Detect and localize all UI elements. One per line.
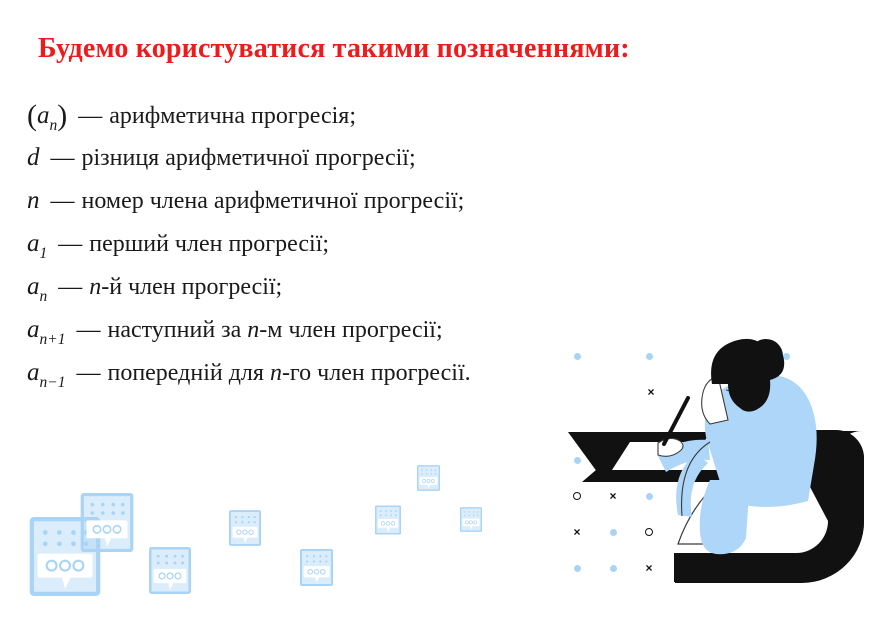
em-dash: — <box>65 358 107 388</box>
symbol-base: a <box>37 101 50 131</box>
em-dash: — <box>40 143 82 173</box>
notation-description: перший член прогресії; <box>89 229 329 259</box>
em-dash: — <box>67 101 109 131</box>
description-prefix: наступний за <box>107 317 247 343</box>
symbol-base: n <box>27 186 40 216</box>
symbol-base: a <box>27 229 40 259</box>
em-dash: — <box>40 186 82 216</box>
person-writing-illustration <box>560 330 880 629</box>
notation-description: номер члена арифметичної прогресії; <box>82 186 465 216</box>
notation-description: попередній для n-го член прогресії. <box>107 358 470 388</box>
chat-bubble-icon <box>79 493 135 552</box>
chat-bubble-icon <box>149 547 191 594</box>
notation-description: різниця арифметичної прогресії; <box>82 143 416 173</box>
description-suffix: -м член прогресії; <box>259 317 442 343</box>
chat-bubble-icon <box>229 510 261 546</box>
description-suffix: -го член прогресії. <box>282 360 471 386</box>
notation-description: n-й член прогресії; <box>89 272 282 302</box>
symbol-base: a <box>27 315 40 345</box>
notation-symbol: (an) <box>27 100 67 131</box>
symbol-base: a <box>27 358 40 388</box>
notation-description: арифметична прогресія; <box>109 101 356 131</box>
description-variable: n <box>270 360 282 386</box>
hair-bun <box>749 339 783 373</box>
symbol-base: a <box>27 272 40 302</box>
notation-line: a1 — перший член прогресії; <box>27 229 667 272</box>
chat-bubble-icon <box>300 549 333 586</box>
description-suffix: -й член прогресії; <box>101 274 282 300</box>
sweater-hip <box>700 480 750 554</box>
notation-symbol: n <box>27 186 40 216</box>
slide-canvas: Будемо користуватися такими позначеннями… <box>0 0 880 629</box>
description-variable: n <box>89 274 101 300</box>
em-dash: — <box>47 272 89 302</box>
notation-symbol: a1 <box>27 229 47 259</box>
desk-edge <box>582 470 732 482</box>
notation-line: n — номер члена арифметичної прогресії; <box>27 186 667 229</box>
notation-description: наступний за n-м член прогресії; <box>107 315 442 345</box>
paren-close: ) <box>57 102 67 129</box>
notation-line: (an) — арифметична прогресія; <box>27 100 667 143</box>
chat-bubble-icon <box>417 465 440 491</box>
notation-symbol: d <box>27 143 40 173</box>
page-title: Будемо користуватися такими позначеннями… <box>38 32 838 66</box>
notation-symbol: an−1 <box>27 358 65 388</box>
paren-open: ( <box>27 102 37 129</box>
notation-line: an — n-й член прогресії; <box>27 272 667 315</box>
chat-bubble-icon <box>375 505 401 535</box>
notation-symbol: an <box>27 272 47 302</box>
notation-symbol: an+1 <box>27 315 65 345</box>
em-dash: — <box>47 229 89 259</box>
chat-bubble-icon <box>460 507 482 532</box>
em-dash: — <box>65 315 107 345</box>
notation-line: d — різниця арифметичної прогресії; <box>27 143 667 186</box>
description-variable: n <box>247 317 259 343</box>
symbol-base: d <box>27 143 40 173</box>
description-prefix: попередній для <box>107 360 269 386</box>
